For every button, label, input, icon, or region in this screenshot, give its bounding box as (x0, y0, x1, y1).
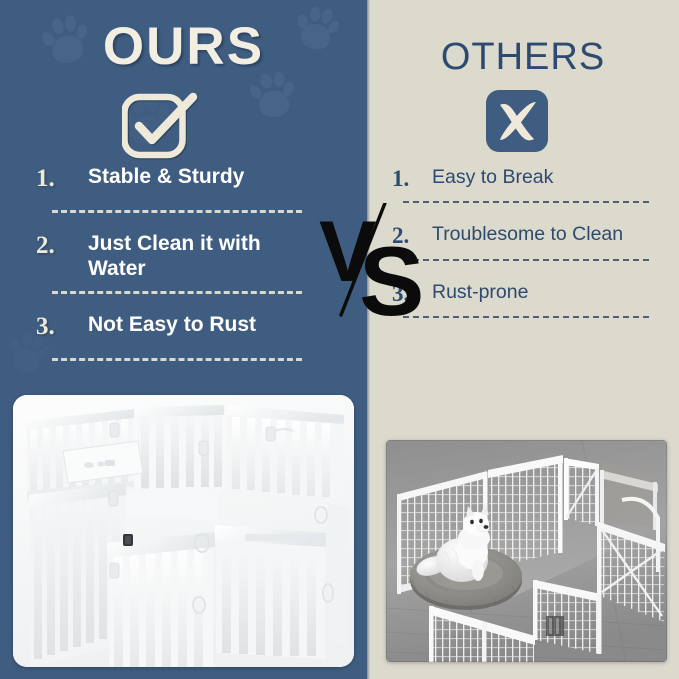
list-item: 1. Stable & Sturdy (36, 165, 318, 201)
list-item-number: 3. (392, 281, 432, 307)
list-item-label: Rust-prone (432, 281, 528, 304)
others-title: OTHERS (367, 36, 679, 79)
list-item: 1. Easy to Break (392, 166, 662, 192)
list-item-label: Just Clean it with Water (88, 232, 318, 282)
list-separator (403, 316, 649, 318)
list-item-label: Easy to Break (432, 166, 553, 189)
list-item-number: 3. (36, 313, 88, 342)
others-feature-list: 1. Easy to Break 2. Troublesome to Clean… (392, 166, 662, 318)
list-item-number: 1. (36, 165, 88, 194)
list-item-number: 2. (36, 232, 88, 261)
checkmark-square-icon (122, 90, 198, 166)
white-plastic-pet-playpen-photo (13, 395, 354, 667)
infographic-root: OURS OTHERS 1. Stable & (0, 0, 679, 679)
x-mark-square-icon (484, 88, 550, 154)
list-separator (403, 259, 649, 261)
list-separator (52, 358, 302, 361)
list-item-label: Stable & Sturdy (88, 165, 244, 190)
ours-feature-list: 1. Stable & Sturdy 2. Just Clean it with… (36, 165, 318, 361)
panel-divider (367, 0, 370, 679)
list-item: 3. Not Easy to Rust (36, 313, 318, 349)
list-item: 2. Just Clean it with Water (36, 232, 318, 282)
list-item-number: 1. (392, 166, 432, 192)
list-separator (52, 291, 302, 294)
list-separator (52, 210, 302, 213)
list-separator (403, 201, 649, 203)
list-item: 3. Rust-prone (392, 281, 662, 307)
list-item-label: Not Easy to Rust (88, 313, 256, 338)
list-item-label: Troublesome to Clean (432, 223, 623, 246)
wire-pet-playpen-with-dog-photo (386, 440, 667, 662)
list-item-number: 2. (392, 223, 432, 249)
ours-title: OURS (0, 16, 367, 77)
list-item: 2. Troublesome to Clean (392, 223, 662, 249)
